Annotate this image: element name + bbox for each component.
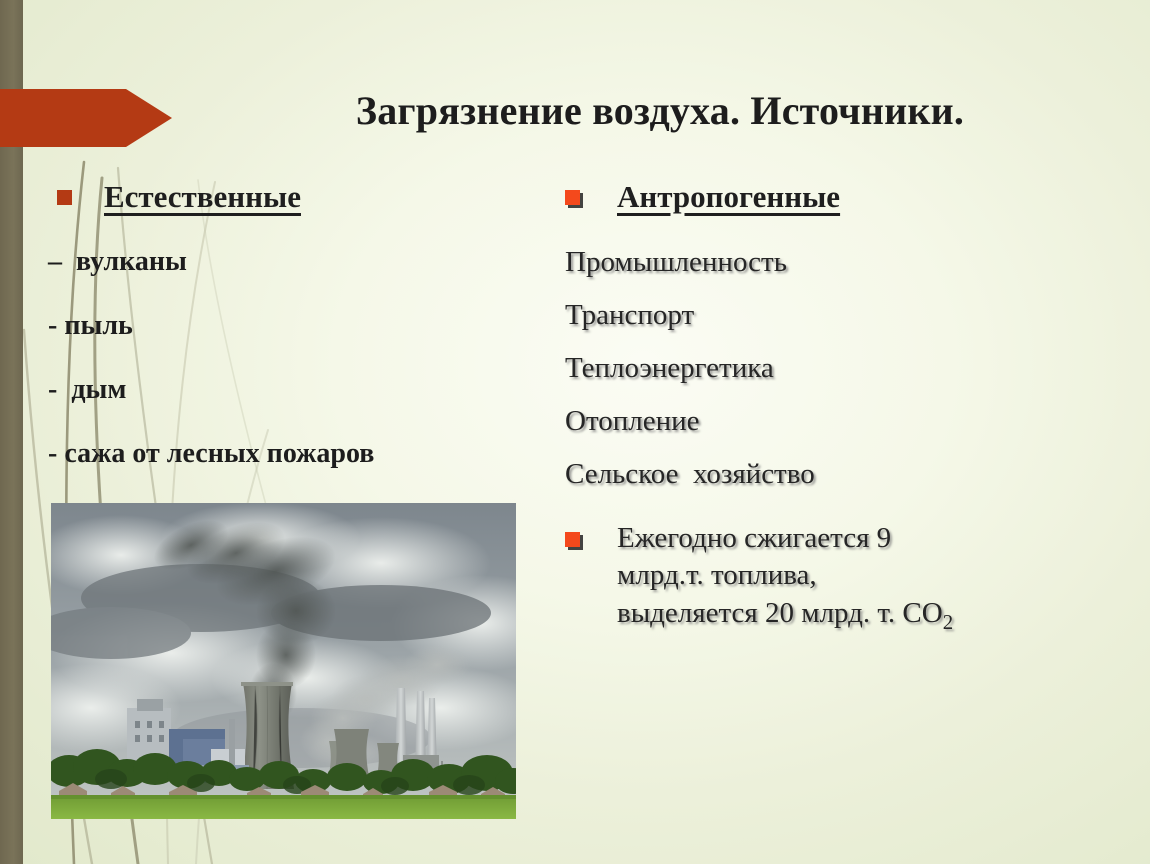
right-item-industry: Промышленность [565,248,1135,277]
bullet-square-icon [565,190,580,205]
left-item-volcanoes: – вулканы [48,248,530,276]
right-column-heading: Антропогенные [617,178,840,217]
power-plant-photo [51,503,516,819]
fact-line-2: млрд.т. топлива, [617,559,817,591]
right-heading-row: Антропогенные [555,178,1135,217]
title-arrow-banner [0,89,172,147]
right-item-transport: Транспорт [565,301,1135,330]
page-title: Загрязнение воздуха. Источники. [190,88,1130,134]
left-item-smoke: - дым [48,376,530,404]
left-item-soot-forest-fires: - сажа от лесных пожаров [48,440,530,468]
right-item-heating: Отопление [565,407,1135,436]
bullet-square-icon [57,190,72,205]
slide-canvas: Загрязнение воздуха. Источники. Естестве… [0,0,1150,864]
right-item-thermal-power: Теплоэнергетика [565,354,1135,383]
fact-line-1: Ежегодно сжигается 9 [617,522,891,554]
left-column-heading: Естественные [104,178,301,217]
fact-line-3: выделяется 20 млрд. т. CO [617,597,943,629]
left-heading-row: Естественные [30,178,530,217]
left-item-dust: - пыль [48,312,530,340]
right-item-agriculture: Сельское хозяйство [565,460,1135,489]
fact-co2-subscript: 2 [943,610,953,634]
right-fact-text: Ежегодно сжигается 9млрд.т. топлива,выде… [617,520,953,636]
right-column: Антропогенные Промышленность Транспорт Т… [555,178,1135,636]
right-fact-row: Ежегодно сжигается 9млрд.т. топлива,выде… [555,520,1135,636]
left-column: Естественные – вулканы - пыль - дым - са… [30,178,530,468]
bullet-square-icon [565,532,580,547]
